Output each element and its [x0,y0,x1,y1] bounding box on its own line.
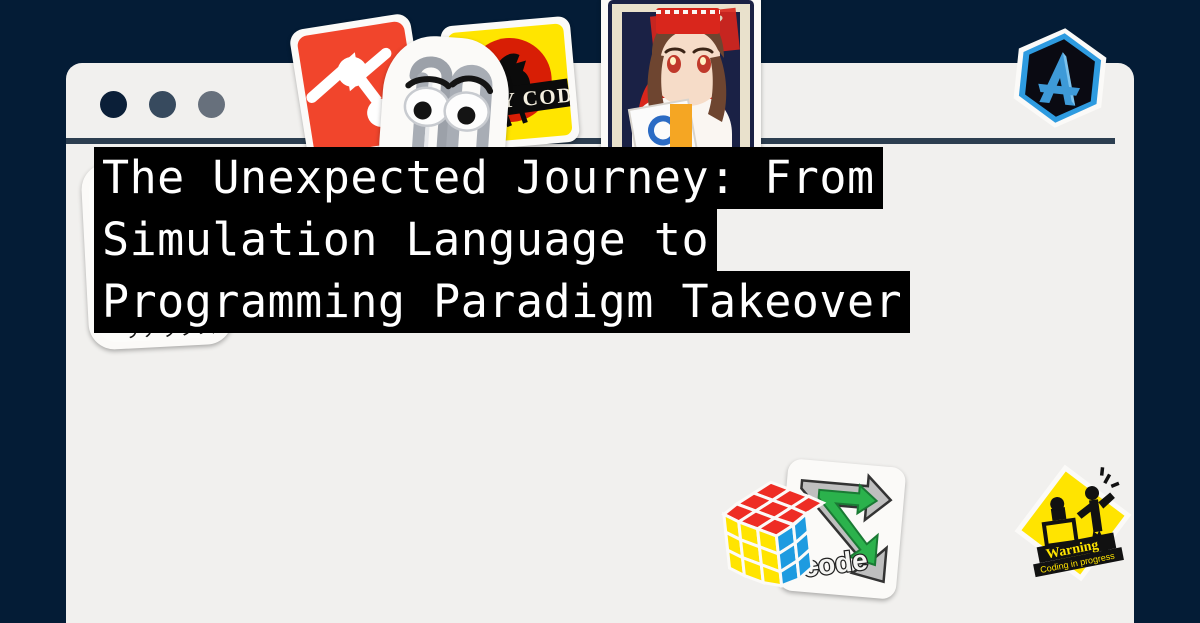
chrome-divider [66,138,1115,144]
maximize-dot[interactable] [198,91,225,118]
page-title-line-3: Programming Paradigm Takeover [94,271,910,333]
close-dot[interactable] [100,91,127,118]
page-title-line-2: Simulation Language to [94,209,717,271]
page-title: The Unexpected Journey: From Simulation … [94,147,910,333]
rubiks-cube-sticker [717,473,836,592]
warning-coding-sticker: Warning Coding in progress [1004,454,1142,592]
minimize-dot[interactable] [149,91,176,118]
window-controls [100,91,225,118]
page-title-line-1: The Unexpected Journey: From [94,147,883,209]
blue-hex-a-sticker [1007,21,1113,134]
